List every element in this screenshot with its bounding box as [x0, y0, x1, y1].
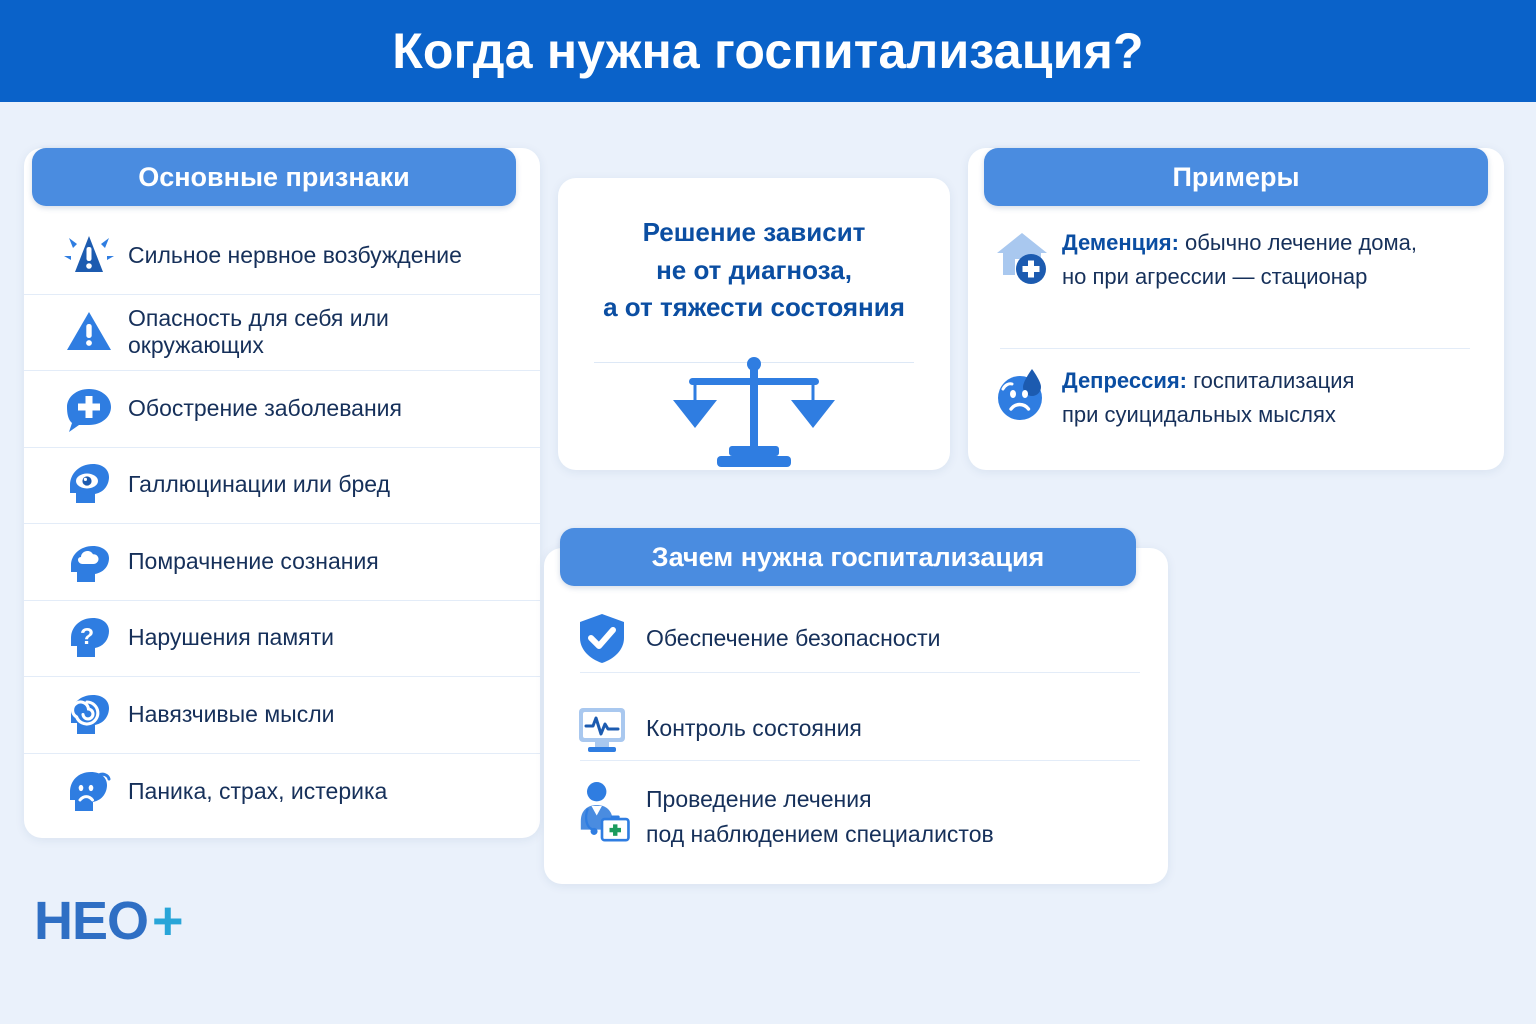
list-item-label: Обострение заболевания — [128, 395, 402, 423]
list-item-label: Помрачнение сознания — [128, 548, 379, 576]
list-item: Контроль состояния — [572, 698, 1152, 758]
scales-balance-icon — [659, 352, 849, 477]
example-rest-label: обычно лечение дома, — [1179, 230, 1417, 255]
exclamation-burst-icon — [60, 227, 118, 285]
why-text: Проведение лечения под наблюдением специ… — [646, 782, 994, 851]
list-item: Депрессия: госпитализация при суицидальн… — [990, 362, 1490, 432]
signs-card-header: Основные признаки — [32, 148, 516, 206]
shield-check-icon — [572, 608, 632, 668]
head-sad-face-icon — [60, 763, 118, 821]
examples-card-header: Примеры — [984, 148, 1488, 206]
example-text: Депрессия: госпитализация при суицидальн… — [1062, 362, 1354, 432]
why-header-label: Зачем нужна госпитализация — [652, 542, 1045, 573]
why-line-1: Проведение лечения — [646, 782, 994, 817]
doctor-icon — [572, 782, 632, 842]
list-item-label: Сильное нервное возбуждение — [128, 242, 462, 270]
signs-header-label: Основные признаки — [138, 162, 410, 193]
list-item: Деменция: обычно лечение дома, но при аг… — [990, 224, 1490, 294]
decision-line-2: не от диагноза, — [558, 252, 950, 290]
examples-divider — [1000, 348, 1470, 349]
list-item-label: Галлюцинации или бред — [128, 471, 390, 499]
house-medical-icon — [990, 224, 1054, 288]
list-item: Сильное нервное возбуждение — [24, 218, 540, 295]
sad-face-droplet-icon — [990, 362, 1054, 426]
list-item: Обострение заболевания — [24, 371, 540, 448]
list-item-label: Паника, страх, истерика — [128, 778, 387, 806]
why-card-header: Зачем нужна госпитализация — [560, 528, 1136, 586]
scales-wrapper — [558, 352, 950, 477]
why-text: Контроль состояния — [646, 711, 862, 746]
why-line-2: под наблюдением специалистов — [646, 817, 994, 852]
list-item: Опасность для себя или окружающих — [24, 295, 540, 372]
list-item-label: Опасность для себя или окружающих — [128, 305, 518, 360]
head-spiral-icon — [60, 686, 118, 744]
list-item: Обеспечение безопасности — [572, 608, 1152, 668]
decision-line-1: Решение зависит — [558, 214, 950, 252]
logo-plus-icon: + — [152, 890, 184, 952]
example-bold-label: Деменция: — [1062, 230, 1179, 255]
list-item: Помрачнение сознания — [24, 524, 540, 601]
list-item: Проведение лечения под наблюдением специ… — [572, 782, 1152, 851]
list-item: ? Нарушения памяти — [24, 601, 540, 678]
speech-bubble-cross-icon — [60, 380, 118, 438]
example-line-2: но при агрессии — стационар — [1062, 260, 1417, 294]
logo-text: HEO — [34, 890, 148, 952]
why-divider — [580, 760, 1140, 761]
list-item-label: Навязчивые мысли — [128, 701, 334, 729]
logo: HEO + — [34, 890, 184, 952]
page-header: Когда нужна госпитализация? — [0, 0, 1536, 102]
head-question-icon: ? — [60, 609, 118, 667]
list-item: Паника, страх, истерика — [24, 754, 540, 831]
signs-list: Сильное нервное возбуждение Опасность дл… — [24, 218, 540, 830]
example-bold-label: Депрессия: — [1062, 368, 1187, 393]
example-rest-label: госпитализация — [1187, 368, 1354, 393]
svg-text:?: ? — [80, 623, 94, 649]
example-line-2: при суицидальных мыслях — [1062, 398, 1354, 432]
page-title: Когда нужна госпитализация? — [392, 26, 1144, 76]
list-item: Навязчивые мысли — [24, 677, 540, 754]
list-item: Галлюцинации или бред — [24, 448, 540, 525]
head-eye-icon — [60, 456, 118, 514]
why-divider — [580, 672, 1140, 673]
monitor-heartbeat-icon — [572, 698, 632, 758]
decision-line-3: а от тяжести состояния — [558, 289, 950, 327]
list-item-label: Нарушения памяти — [128, 624, 334, 652]
why-text: Обеспечение безопасности — [646, 621, 941, 656]
examples-header-label: Примеры — [1172, 162, 1299, 193]
head-cloud-icon — [60, 533, 118, 591]
decision-text: Решение зависит не от диагноза, а от тяж… — [558, 214, 950, 327]
example-text: Деменция: обычно лечение дома, но при аг… — [1062, 224, 1417, 294]
warning-triangle-icon — [60, 303, 118, 361]
